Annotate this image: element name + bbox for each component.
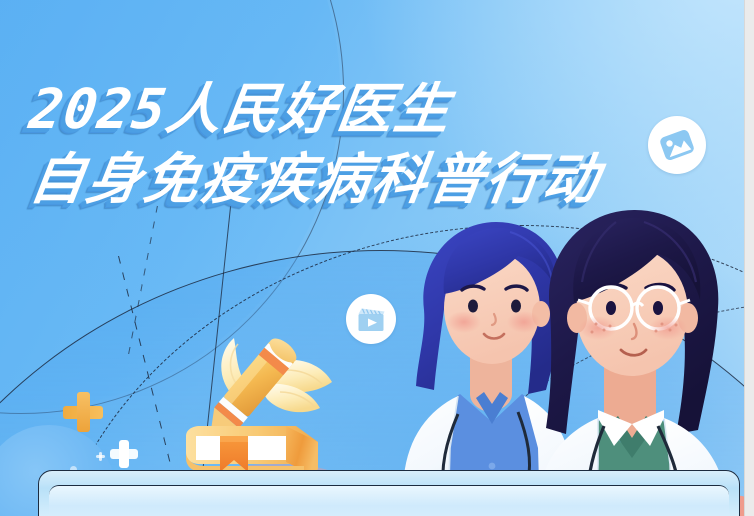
plus-small-bar-vertical [99,452,102,461]
doctors-glyph [400,198,745,516]
bottom-panel-inner [49,485,729,516]
photo-icon[interactable] [648,116,706,174]
plus-orange-icon [63,392,103,432]
doctors-illustration [400,198,745,516]
plus-orange-bar-vertical [77,392,90,432]
poster-root: 2025人民好医生 自身免疫疾病科普行动 [0,0,754,516]
title-year: 2025 [26,77,171,141]
pencil-book-illustration [168,300,368,490]
plus-white-small-icon [96,452,105,461]
pencil-book-glyph [168,300,368,490]
bottom-panel [38,470,740,516]
title-line-one: 2025人民好医生 [26,82,604,137]
plus-white-icon [110,440,138,468]
poster-title: 2025人民好医生 自身免疫疾病科普行动 [30,82,600,207]
poster-canvas: 2025人民好医生 自身免疫疾病科普行动 [0,0,745,516]
title-line-one-text: 人民好医生 [162,78,456,140]
plus-white-bar-vertical [119,440,129,468]
page-right-margin [745,0,754,516]
page-margin-divider [744,0,745,516]
photo-icon-glyph [654,122,700,168]
